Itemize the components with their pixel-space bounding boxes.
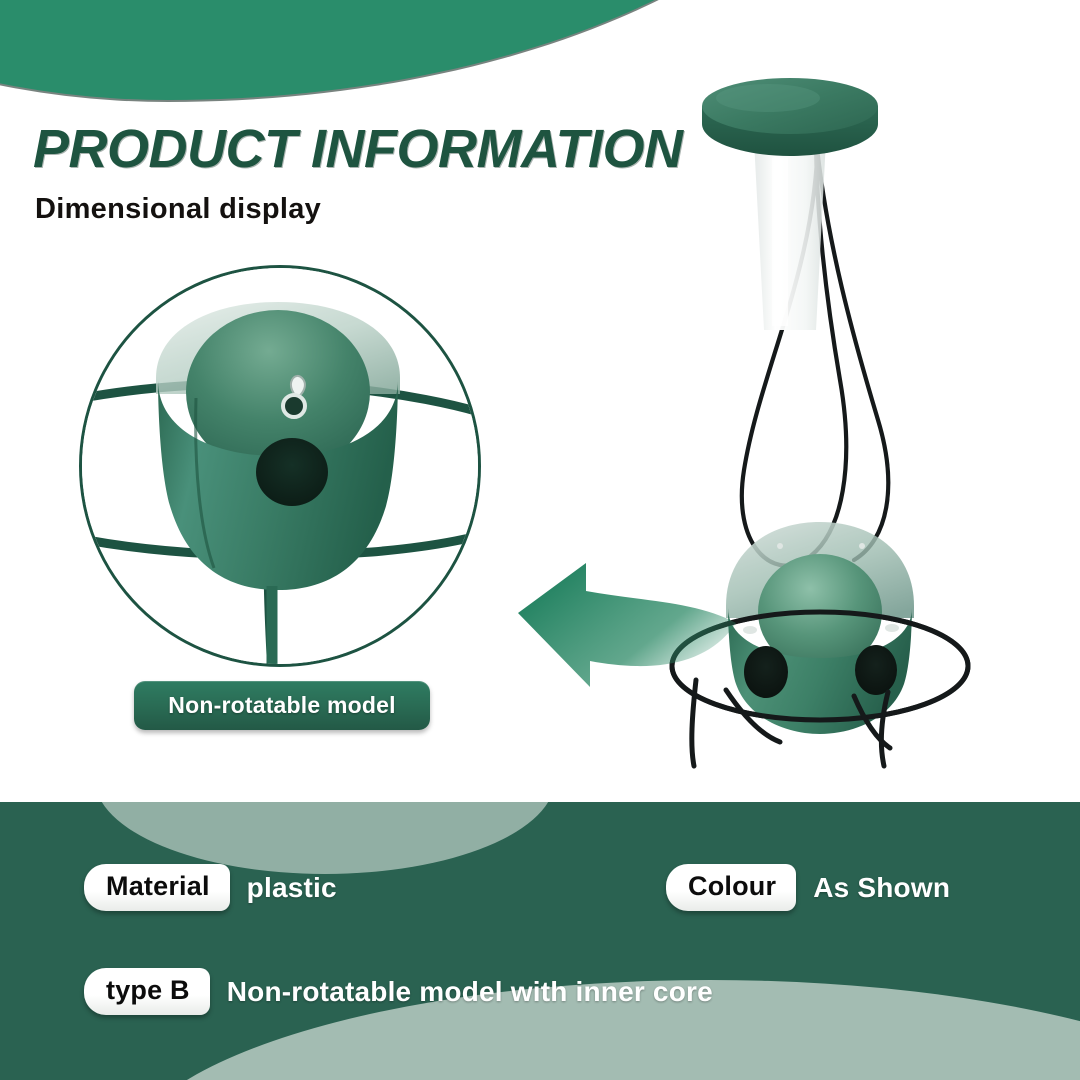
page-title: PRODUCT INFORMATION bbox=[33, 118, 682, 180]
spec-label-chip-material: Material bbox=[84, 864, 230, 911]
magnified-feeding-port bbox=[256, 438, 328, 506]
spec-row-material: Material plastic bbox=[84, 864, 337, 911]
spec-value-material: plastic bbox=[247, 872, 337, 904]
spec-label-text: type B bbox=[106, 975, 190, 1006]
spec-row-type: type B Non-rotatable model with inner co… bbox=[84, 968, 713, 1015]
translucent-seed-tube bbox=[754, 131, 826, 330]
page-subtitle: Dimensional display bbox=[35, 193, 321, 226]
model-callout-badge: Non-rotatable model bbox=[134, 681, 430, 730]
feeding-port-left bbox=[744, 646, 788, 698]
spec-value-colour: As Shown bbox=[813, 872, 950, 904]
spec-row-colour: Colour As Shown bbox=[666, 864, 950, 911]
spec-label-text: Material bbox=[106, 871, 210, 902]
pointer-arrow-icon bbox=[440, 555, 740, 715]
green-lid-cap bbox=[702, 78, 878, 156]
infographic-canvas: PRODUCT INFORMATION Dimensional display bbox=[0, 0, 1080, 1080]
specifications-panel bbox=[0, 802, 1080, 1080]
spec-label-chip-type: type B bbox=[84, 968, 210, 1015]
magnified-detail-inset bbox=[82, 268, 478, 664]
spec-label-text: Colour bbox=[688, 871, 776, 902]
model-callout-label: Non-rotatable model bbox=[168, 692, 395, 719]
spec-value-type: Non-rotatable model with inner core bbox=[227, 976, 713, 1008]
feeding-port-right bbox=[855, 645, 897, 695]
spec-label-chip-colour: Colour bbox=[666, 864, 796, 911]
